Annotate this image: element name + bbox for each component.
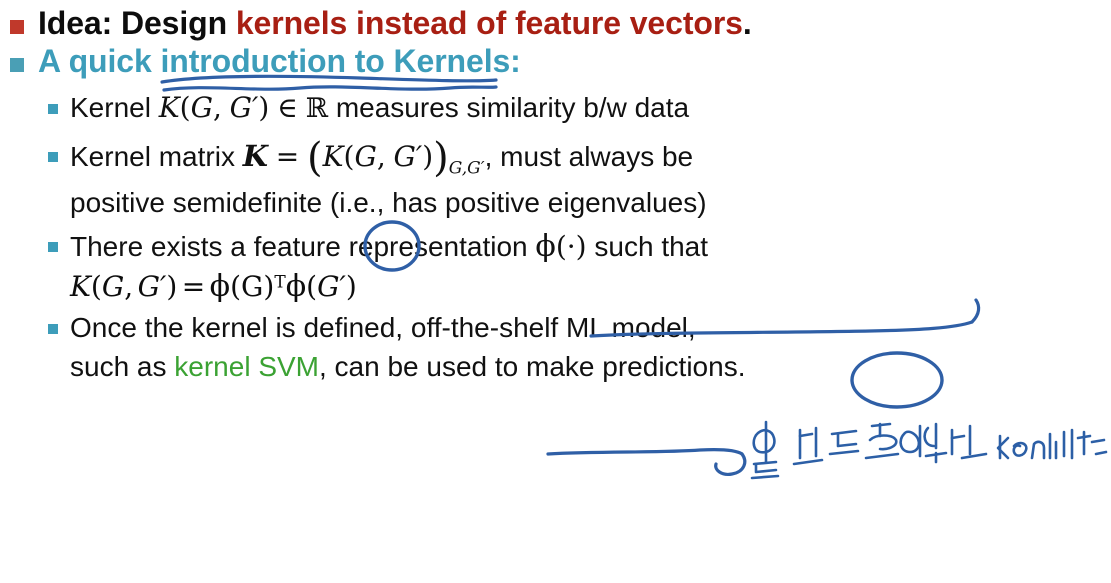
ink-underline-equation [548,450,742,454]
math-rparen-2: ) [422,140,433,173]
math-G: G [191,91,213,124]
off-the-shelf-line-2: such as kernel SVM, can be used to make … [70,349,745,385]
bullet-idea: Idea: Design kernels instead of feature … [0,6,1111,42]
math-K-bold: K [243,139,268,173]
bullet-intro: A quick introduction to Kernels: [0,44,1111,80]
math-G-roman: G [241,270,263,303]
sub-bullet-feature-representation: There exists a feature representation ϕ(… [0,228,1111,266]
math-lparen-2: ( [344,140,355,173]
math-lparen-3: ( [556,230,567,263]
math-lparen: ( [180,91,191,124]
math-G-prime-3: G′ [138,270,167,303]
sub-bullet-kernel-definition: Kernel K(G, G′) ∈ ℝ measures similarity … [0,90,1111,127]
bullet-intro-text: A quick introduction to Kernels: [38,44,521,80]
math-G-prime-2: G′ [394,140,423,173]
math-phi-3: ϕ [286,269,306,304]
math-comma: , [213,91,222,124]
bullet-idea-text: Idea: Design kernels instead of feature … [38,6,752,42]
math-big-lparen: ( [307,135,323,181]
bullet-square-icon [48,242,58,252]
bullet-square-icon [10,58,24,72]
math-centerdot: · [567,230,576,263]
math-lparen-4: ( [91,270,102,303]
math-K-inner: K [323,140,344,173]
math-G-2: G [354,140,376,173]
bullet-idea-seg-3: . [743,5,752,41]
sub-bullet-kernel-matrix: Kernel matrix K = (K(G, G′))G,G′, must a… [0,138,1111,220]
math-equals-2: = [182,270,205,303]
math-reals-symbol: ℝ [306,93,328,124]
ink-underline-equation-hook [716,454,745,474]
math-phi-2: ϕ [210,269,230,304]
math-comma-2: , [377,140,386,173]
math-big-rparen: ) [433,135,449,181]
sub-bullet-kernel-definition-tail: measures similarity b/w data [328,92,689,123]
kernel-matrix-line-1: Kernel matrix K = (K(G, G′))G,G′, must a… [70,138,707,180]
bullet-idea-seg-2: kernels instead of feature vectors [236,5,743,41]
ink-korean-note [752,422,1106,478]
math-rparen-3: ) [576,230,587,263]
math-G-prime-4: G′ [317,270,346,303]
math-lparen-6: ( [306,270,317,303]
math-rparen-6: ) [346,270,357,303]
feature-rep-prefix: There exists a feature representation [70,231,535,262]
kernel-matrix-suffix: , must always be [485,141,694,172]
math-equals: = [276,140,299,173]
off-the-shelf-prefix: such as [70,351,174,382]
math-G-prime: G′ [230,91,259,124]
feature-rep-suffix: such that [587,231,708,262]
bullet-square-icon [48,152,58,162]
sub-bullet-kernel-matrix-text: Kernel matrix K = (K(G, G′))G,G′, must a… [70,138,707,220]
bullet-square-icon [10,20,24,34]
math-transpose: T [274,272,285,292]
math-K-eq: K [70,270,91,303]
off-the-shelf-highlight: kernel SVM [174,351,319,382]
off-the-shelf-suffix: , can be used to make predictions. [319,351,745,382]
bullet-idea-seg-1: Idea: Design [38,5,236,41]
math-subscript-GG: G,G′ [449,159,485,179]
math-phi: ϕ [535,229,555,264]
sub-bullet-feature-representation-text: There exists a feature representation ϕ(… [70,228,708,266]
kernel-matrix-line-2: positive semidefinite (i.e., has positiv… [70,185,707,221]
sub-bullet-off-the-shelf-text: Once the kernel is defined, off-the-shel… [70,310,745,385]
math-G-3: G [102,270,124,303]
slide-canvas: Idea: Design kernels instead of feature … [0,6,1111,583]
math-rparen-5: ) [263,270,274,303]
kernel-matrix-prefix: Kernel matrix [70,141,243,172]
math-comma-3: , [124,270,133,303]
feature-rep-line-1: There exists a feature representation ϕ(… [70,228,708,266]
bullet-square-icon [48,104,58,114]
math-K: K [159,91,180,124]
off-the-shelf-line-1: Once the kernel is defined, off-the-shel… [70,310,745,346]
math-rparen: ) [258,91,269,124]
bullet-square-icon [48,324,58,334]
sub-bullet-kernel-definition-text: Kernel K(G, G′) ∈ ℝ measures similarity … [70,90,689,127]
math-in-symbol: ∈ [277,91,298,124]
equation-kernel-feature-map: K(G, G′) = ϕ(G)Tϕ(G′) [0,269,1111,304]
sub-bullet-off-the-shelf: Once the kernel is defined, off-the-shel… [0,310,1111,385]
math-lparen-5: ( [230,270,241,303]
math-rparen-4: ) [166,270,177,303]
